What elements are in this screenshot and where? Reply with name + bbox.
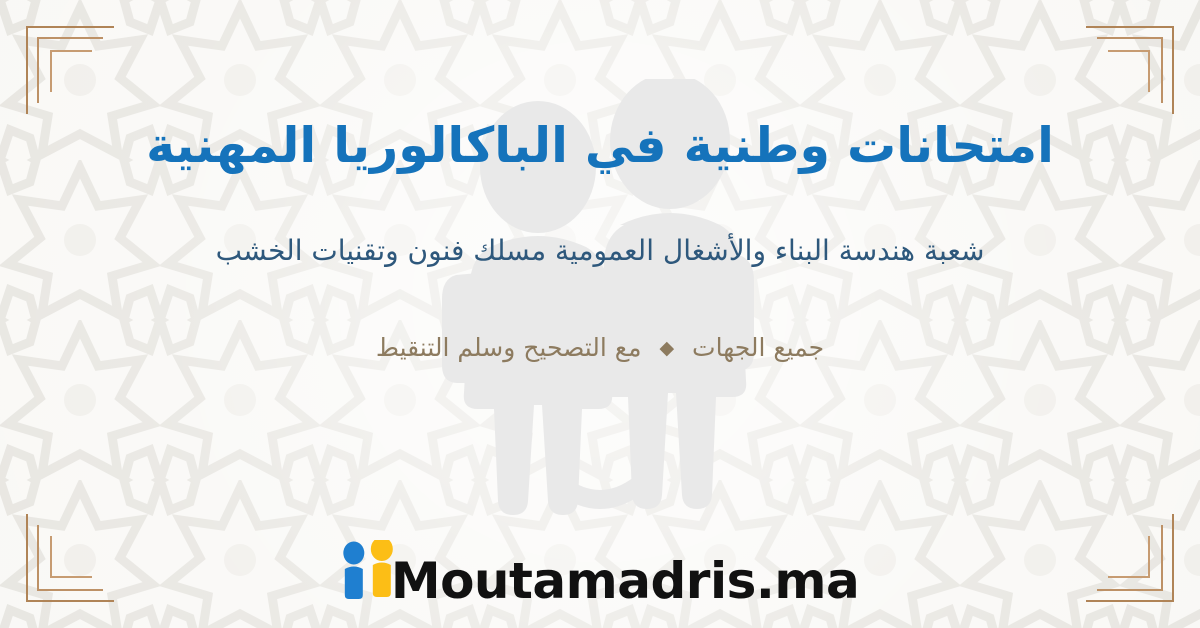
brand-name: Moutamadris.ma (391, 556, 859, 606)
poster-canvas: امتحانات وطنية في الباكالوريا المهنية شع… (0, 0, 1200, 628)
two-students-icon (341, 540, 397, 604)
diamond-separator-icon: ◆ (659, 336, 674, 361)
poster-meta: جميع الجهات ◆ مع التصحيح وسلم التنقيط (376, 270, 824, 365)
poster-subtitle: شعبة هندسة البناء والأشغال العمومية مسلك… (216, 176, 985, 270)
brand-lockup[interactable]: Moutamadris.ma (341, 540, 859, 606)
meta-note: مع التصحيح وسلم التنقيط (376, 333, 642, 362)
page-title: امتحانات وطنية في الباكالوريا المهنية (146, 0, 1054, 176)
poster-content: امتحانات وطنية في الباكالوريا المهنية شع… (0, 0, 1200, 628)
meta-region: جميع الجهات (692, 333, 824, 362)
